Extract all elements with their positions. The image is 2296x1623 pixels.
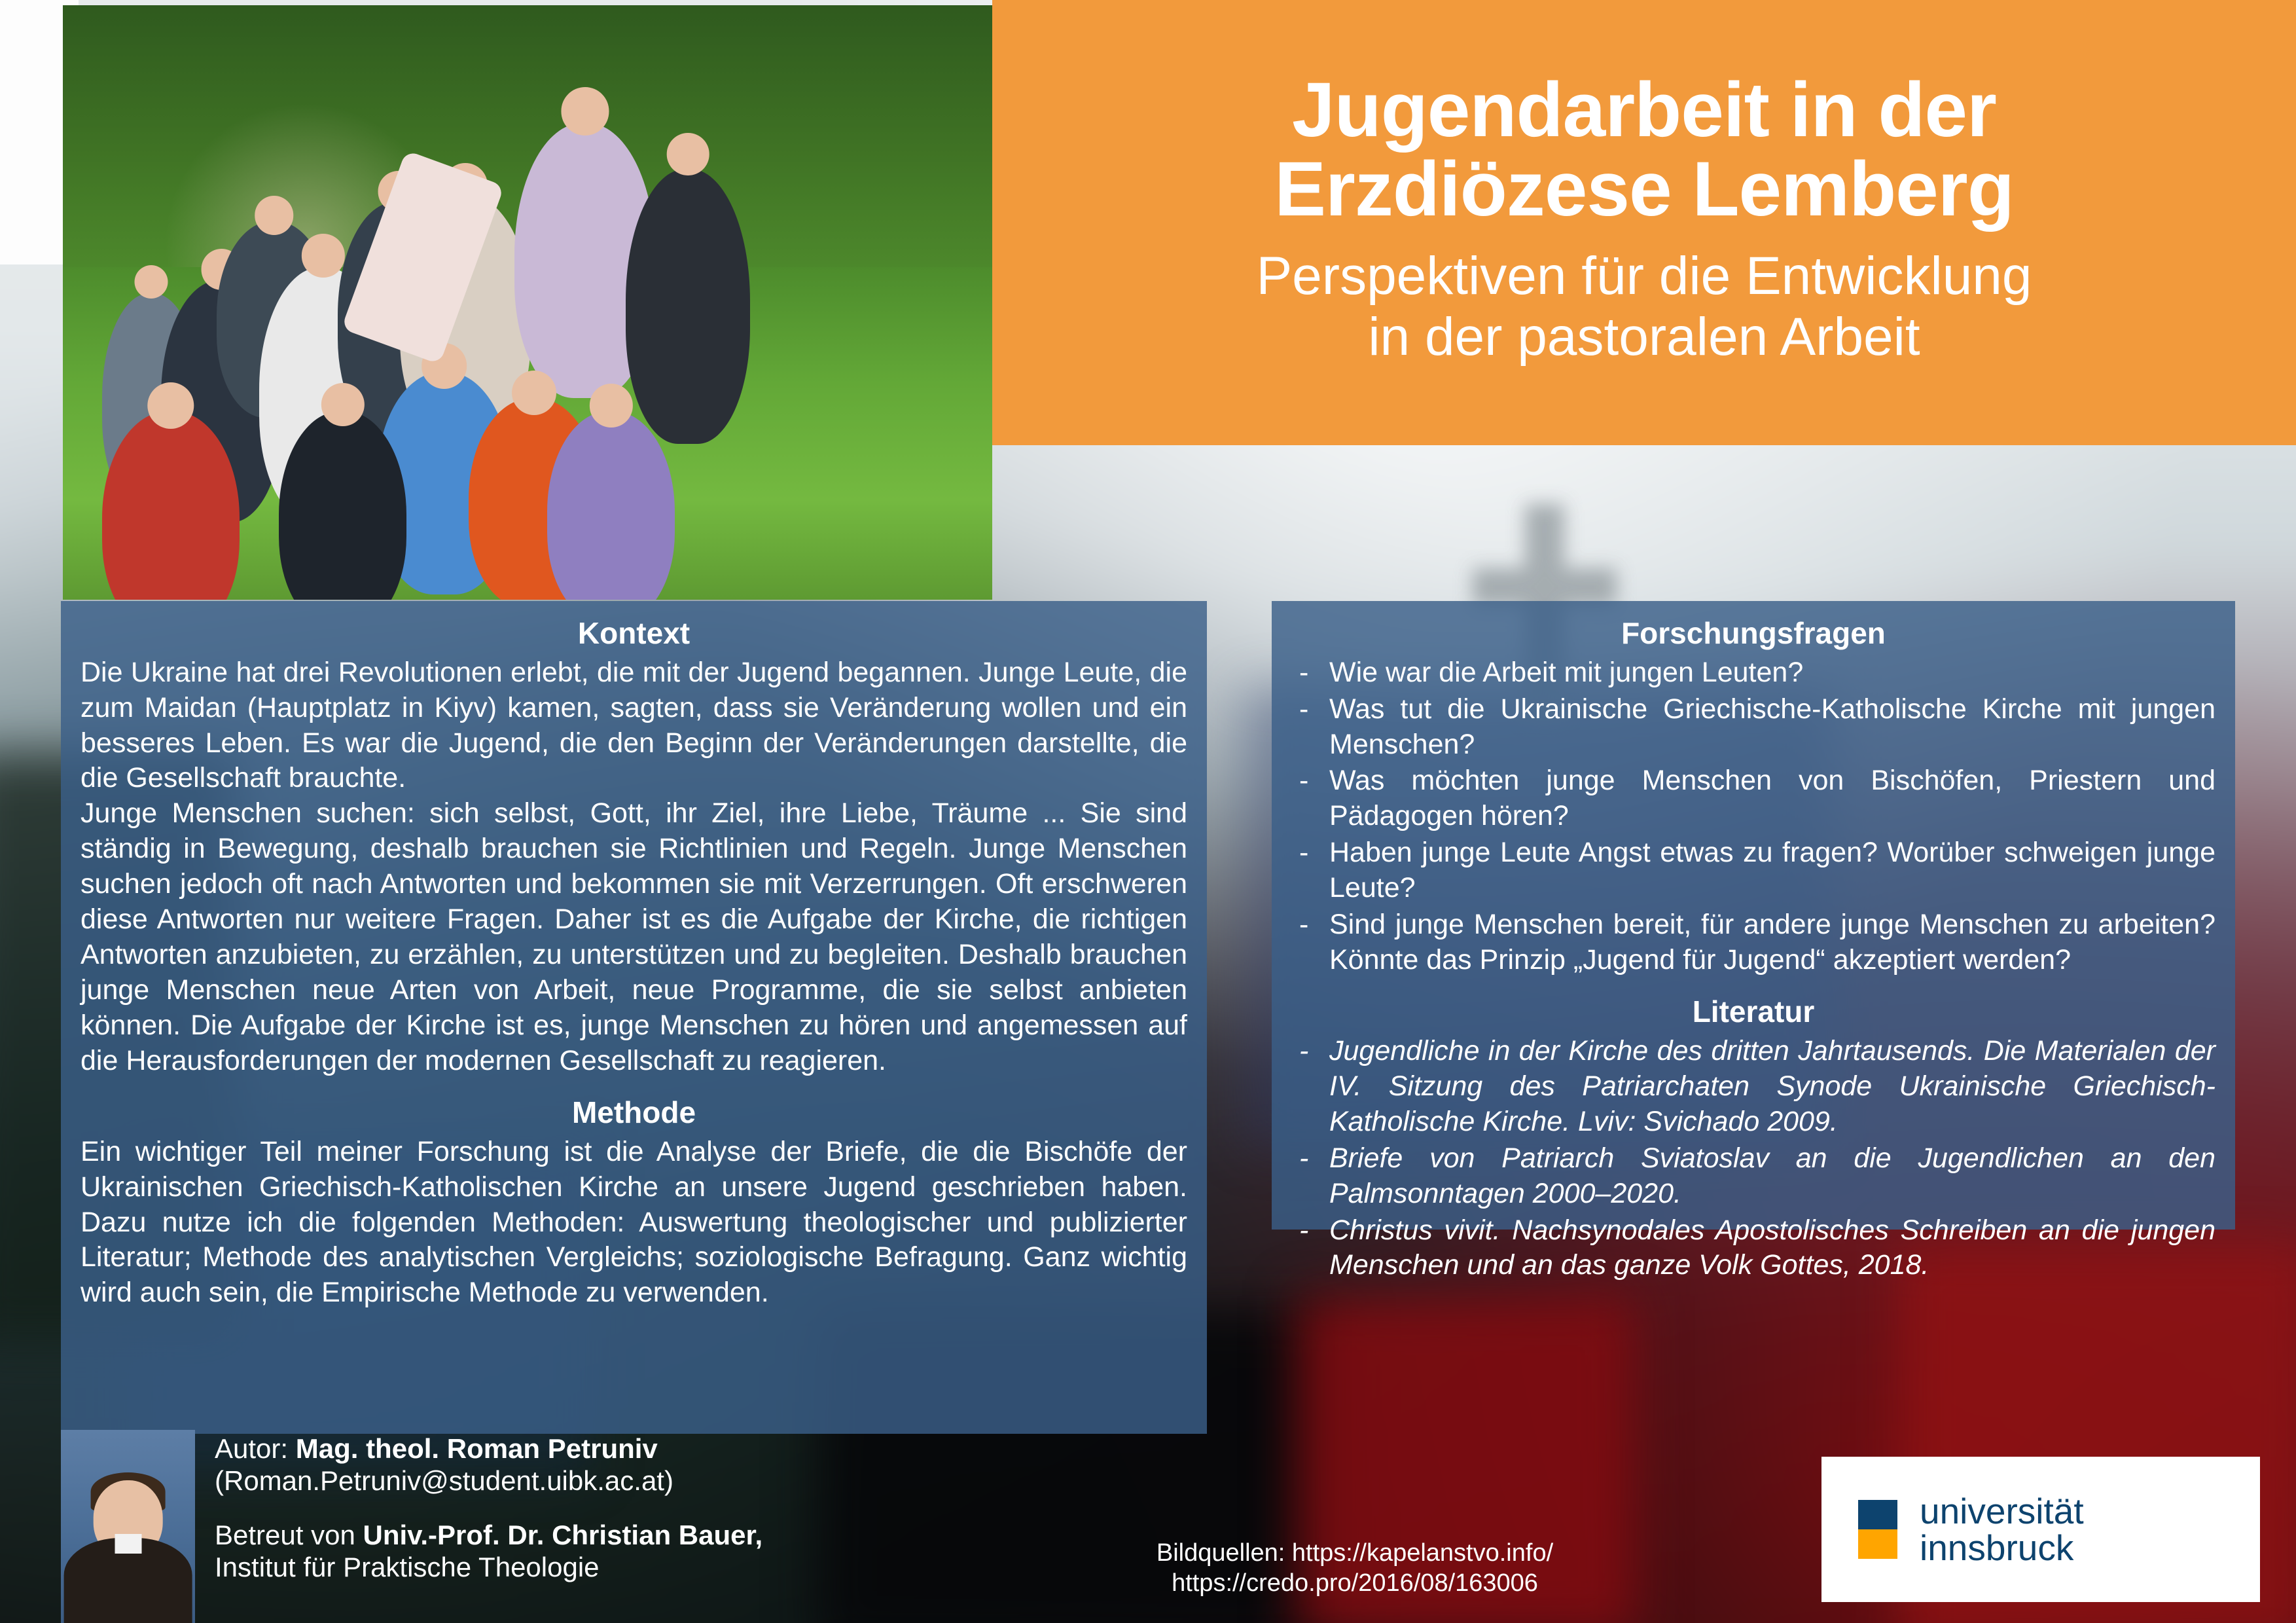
title-band: Jugendarbeit in der Erzdiözese Lemberg P… xyxy=(992,0,2296,445)
panel-forschungsfragen-literatur: Forschungsfragen Wie war die Arbeit mit … xyxy=(1272,601,2235,1230)
bildquellen-line1[interactable]: Bildquellen: https://kapelanstvo.info/ xyxy=(1073,1539,1636,1569)
university-logo: universität innsbruck xyxy=(1821,1457,2260,1602)
author-label: Autor: xyxy=(215,1433,288,1464)
forschungsfragen-list: Wie war die Arbeit mit jungen Leuten? Wa… xyxy=(1291,655,2215,979)
avatar xyxy=(61,1430,195,1623)
methode-paragraph: Ein wichtiger Teil meiner Forschung ist … xyxy=(81,1135,1187,1311)
logo-wordmark: universität innsbruck xyxy=(1920,1493,2084,1566)
poster-title-line2: Erzdiözese Lemberg xyxy=(1274,150,2014,228)
hero-person xyxy=(626,169,750,444)
list-item: Was möchten junge Menschen von Bischöfen… xyxy=(1291,763,2215,834)
kontext-paragraph-2: Junge Menschen suchen: sich selbst, Gott… xyxy=(81,796,1187,1079)
hero-person xyxy=(279,411,406,600)
heading-forschungsfragen: Forschungsfragen xyxy=(1291,617,2215,650)
list-item: Christus vivit. Nachsynodales Apostolisc… xyxy=(1291,1213,2215,1284)
heading-kontext: Kontext xyxy=(81,617,1187,650)
supervisor-label: Betreut von xyxy=(215,1520,355,1550)
hero-photo-youth-group xyxy=(63,5,992,600)
kontext-paragraph-1: Die Ukraine hat drei Revolutionen erlebt… xyxy=(81,655,1187,797)
author-email[interactable]: (Roman.Petruniv@student.uibk.ac.at) xyxy=(215,1465,762,1497)
author-block: Autor: Mag. theol. Roman Petruniv (Roman… xyxy=(61,1430,820,1623)
logo-square-orange xyxy=(1858,1529,1897,1559)
author-name-line: Autor: Mag. theol. Roman Petruniv xyxy=(215,1432,762,1465)
logo-word-universitaet: universität xyxy=(1920,1493,2084,1529)
author-name: Mag. theol. Roman Petruniv xyxy=(296,1433,658,1464)
hero-person xyxy=(547,411,675,600)
white-margin-left xyxy=(0,0,63,264)
bildquellen-line2[interactable]: https://credo.pro/2016/08/163006 xyxy=(1073,1569,1636,1599)
poster-title-line1: Jugendarbeit in der xyxy=(1292,71,1996,149)
poster-canvas: Jugendarbeit in der Erzdiözese Lemberg P… xyxy=(0,0,2296,1623)
heading-methode: Methode xyxy=(81,1096,1187,1129)
list-item: Wie war die Arbeit mit jungen Leuten? xyxy=(1291,655,2215,691)
list-item: Was tut die Ukrainische Griechische-Kath… xyxy=(1291,692,2215,763)
panel-kontext-methode: Kontext Die Ukraine hat drei Revolutione… xyxy=(61,601,1207,1434)
poster-subtitle-line1: Perspektiven für die Entwicklung xyxy=(1256,246,2032,306)
poster-subtitle-line2: in der pastoralen Arbeit xyxy=(1368,306,1920,367)
literatur-list: Jugendliche in der Kirche des dritten Ja… xyxy=(1291,1034,2215,1284)
supervisor-line: Betreut von Univ.-Prof. Dr. Christian Ba… xyxy=(215,1519,762,1551)
logo-swatch-icon xyxy=(1858,1500,1897,1559)
list-item: Briefe von Patriarch Sviatoslav an die J… xyxy=(1291,1141,2215,1212)
institute-name: Institut für Praktische Theologie xyxy=(215,1551,762,1583)
avatar-collar xyxy=(115,1534,141,1554)
logo-square-blue xyxy=(1858,1500,1897,1529)
logo-word-innsbruck: innsbruck xyxy=(1920,1529,2084,1566)
heading-literatur: Literatur xyxy=(1291,995,2215,1029)
list-item: Jugendliche in der Kirche des dritten Ja… xyxy=(1291,1034,2215,1140)
author-spacer xyxy=(215,1497,762,1519)
supervisor-name: Univ.-Prof. Dr. Christian Bauer, xyxy=(363,1520,762,1550)
list-item: Sind junge Menschen bereit, für andere j… xyxy=(1291,907,2215,978)
bildquellen: Bildquellen: https://kapelanstvo.info/ h… xyxy=(1073,1539,1636,1598)
list-item: Haben junge Leute Angst etwas zu fragen?… xyxy=(1291,835,2215,906)
author-text: Autor: Mag. theol. Roman Petruniv (Roman… xyxy=(215,1430,762,1584)
